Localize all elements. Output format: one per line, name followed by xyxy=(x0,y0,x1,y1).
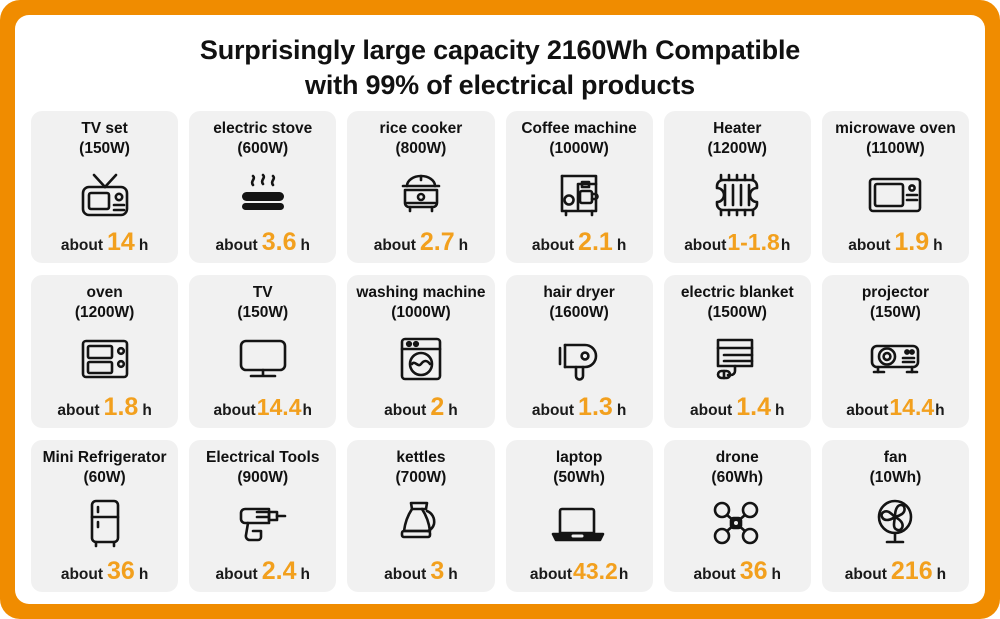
page-title-line-2: with 99% of electrical products xyxy=(31,68,969,103)
appliance-power: (1200W) xyxy=(708,140,767,159)
hair-dryer-icon xyxy=(510,323,649,394)
runtime-value: 1.8 xyxy=(104,395,139,420)
about-label: about xyxy=(214,402,256,420)
appliance-power: (60Wh) xyxy=(711,469,763,488)
appliance-power: (1000W) xyxy=(549,140,608,159)
about-label: about xyxy=(374,237,416,255)
runtime-readout: about2.1h xyxy=(532,230,626,255)
runtime-value: 1.9 xyxy=(894,230,929,255)
runtime-readout: about1.4h xyxy=(690,395,784,420)
appliance-card: Coffee machine(1000W)about2.1h xyxy=(506,111,653,263)
runtime-value: 1-1.8 xyxy=(727,231,779,254)
hours-unit: h xyxy=(139,237,148,255)
appliance-name: rice cooker xyxy=(380,120,463,139)
appliance-name: oven xyxy=(86,284,122,303)
about-label: about xyxy=(532,402,574,420)
runtime-readout: about3.6h xyxy=(216,230,310,255)
runtime-value: 2.7 xyxy=(420,230,455,255)
runtime-readout: about36h xyxy=(694,559,781,584)
about-label: about xyxy=(216,237,258,255)
hours-unit: h xyxy=(617,237,626,255)
runtime-readout: about1.3h xyxy=(532,395,626,420)
appliance-power: (150W) xyxy=(870,304,921,323)
appliance-card: TV(150W)about14.4h xyxy=(189,275,336,427)
runtime-readout: about1-1.8h xyxy=(684,231,790,255)
appliance-name: Mini Refrigerator xyxy=(43,449,167,468)
about-label: about xyxy=(846,402,888,420)
runtime-readout: about14h xyxy=(61,230,148,255)
hours-unit: h xyxy=(302,402,311,420)
hours-unit: h xyxy=(781,237,790,255)
appliance-power: (1200W) xyxy=(75,304,134,323)
appliance-card: kettles(700W)about3h xyxy=(347,440,494,592)
runtime-value: 1.4 xyxy=(736,395,771,420)
appliance-power: (50Wh) xyxy=(553,469,605,488)
page-title: Surprisingly large capacity 2160Wh Compa… xyxy=(31,29,969,111)
hours-unit: h xyxy=(300,566,309,584)
appliance-card: Mini Refrigerator(60W)about36h xyxy=(31,440,178,592)
hours-unit: h xyxy=(448,566,457,584)
appliance-card: electric stove(600W)about3.6h xyxy=(189,111,336,263)
hours-unit: h xyxy=(775,402,784,420)
about-label: about xyxy=(694,566,736,584)
appliance-name: TV set xyxy=(81,120,128,139)
about-label: about xyxy=(530,566,572,584)
runtime-readout: about216h xyxy=(845,559,946,584)
coffee-machine-icon xyxy=(510,159,649,230)
hours-unit: h xyxy=(448,402,457,420)
about-label: about xyxy=(61,566,103,584)
about-label: about xyxy=(532,237,574,255)
appliance-card: rice cooker(800W)about2.7h xyxy=(347,111,494,263)
appliance-name: projector xyxy=(862,284,929,303)
appliance-card: projector(150W)about14.4h xyxy=(822,275,969,427)
appliance-power: (600W) xyxy=(237,140,288,159)
appliance-power: (1000W) xyxy=(391,304,450,323)
appliance-name: Heater xyxy=(713,120,761,139)
about-label: about xyxy=(684,237,726,255)
appliance-name: TV xyxy=(253,284,273,303)
hours-unit: h xyxy=(937,566,946,584)
content-panel: Surprisingly large capacity 2160Wh Compa… xyxy=(15,15,985,604)
laptop-icon xyxy=(510,488,649,560)
appliance-name: Electrical Tools xyxy=(206,449,319,468)
orange-frame: Surprisingly large capacity 2160Wh Compa… xyxy=(0,0,1000,619)
appliance-power: (1100W) xyxy=(866,140,925,159)
runtime-readout: about1.8h xyxy=(57,395,151,420)
about-label: about xyxy=(216,566,258,584)
about-label: about xyxy=(384,566,426,584)
appliance-name: electric stove xyxy=(213,120,312,139)
appliance-card: TV set(150W)about14h xyxy=(31,111,178,263)
runtime-readout: about14.4h xyxy=(846,396,944,420)
appliance-card: Heater(1200W)about1-1.8h xyxy=(664,111,811,263)
about-label: about xyxy=(690,402,732,420)
runtime-readout: about2.4h xyxy=(216,559,310,584)
appliance-card: electric blanket(1500W)about1.4h xyxy=(664,275,811,427)
runtime-value: 14.4 xyxy=(257,396,302,419)
page-title-line-1: Surprisingly large capacity 2160Wh Compa… xyxy=(31,33,969,68)
runtime-value: 36 xyxy=(740,559,768,584)
runtime-value: 14 xyxy=(107,230,135,255)
appliance-power: (10Wh) xyxy=(870,469,922,488)
appliance-name: laptop xyxy=(556,449,603,468)
about-label: about xyxy=(57,402,99,420)
about-label: about xyxy=(845,566,887,584)
runtime-value: 3.6 xyxy=(262,230,297,255)
appliance-card: drone(60Wh)about36h xyxy=(664,440,811,592)
runtime-readout: about36h xyxy=(61,559,148,584)
hours-unit: h xyxy=(935,402,944,420)
runtime-readout: about2.7h xyxy=(374,230,468,255)
appliance-card: laptop(50Wh)about43.2h xyxy=(506,440,653,592)
appliance-power: (60W) xyxy=(83,469,125,488)
hours-unit: h xyxy=(459,237,468,255)
appliance-card: fan(10Wh)about216h xyxy=(822,440,969,592)
runtime-value: 36 xyxy=(107,559,135,584)
runtime-value: 216 xyxy=(891,559,933,584)
washing-machine-icon xyxy=(351,323,490,394)
runtime-value: 14.4 xyxy=(889,396,934,419)
crt-tv-icon xyxy=(35,159,174,230)
electric-stove-icon xyxy=(193,159,332,230)
appliance-card: microwave oven(1100W)about1.9h xyxy=(822,111,969,263)
appliance-name: fan xyxy=(884,449,907,468)
runtime-value: 3 xyxy=(430,559,444,584)
appliance-power: (1500W) xyxy=(708,304,767,323)
appliance-name: electric blanket xyxy=(681,284,794,303)
drone-icon xyxy=(668,488,807,559)
appliance-grid: TV set(150W)about14helectric stove(600W)… xyxy=(31,111,969,592)
runtime-value: 43.2 xyxy=(573,560,618,583)
runtime-value: 1.3 xyxy=(578,395,613,420)
about-label: about xyxy=(384,402,426,420)
microwave-oven-icon xyxy=(826,159,965,230)
appliance-card: oven(1200W)about1.8h xyxy=(31,275,178,427)
appliance-name: drone xyxy=(716,449,759,468)
hours-unit: h xyxy=(619,566,628,584)
appliance-power: (900W) xyxy=(237,469,288,488)
appliance-card: hair dryer(1600W)about1.3h xyxy=(506,275,653,427)
hours-unit: h xyxy=(772,566,781,584)
power-drill-icon xyxy=(193,488,332,559)
refrigerator-icon xyxy=(35,488,174,559)
oven-icon xyxy=(35,323,174,394)
hours-unit: h xyxy=(142,402,151,420)
about-label: about xyxy=(61,237,103,255)
kettle-icon xyxy=(351,488,490,559)
hours-unit: h xyxy=(933,237,942,255)
runtime-readout: about2h xyxy=(384,395,458,420)
hours-unit: h xyxy=(617,402,626,420)
appliance-name: hair dryer xyxy=(543,284,615,303)
runtime-readout: about43.2h xyxy=(530,560,628,584)
appliance-name: kettles xyxy=(396,449,445,468)
appliance-power: (150W) xyxy=(79,140,130,159)
appliance-name: microwave oven xyxy=(835,120,956,139)
appliance-name: Coffee machine xyxy=(521,120,636,139)
runtime-readout: about3h xyxy=(384,559,458,584)
flat-tv-icon xyxy=(193,323,332,395)
radiator-heater-icon xyxy=(668,159,807,231)
runtime-value: 2.1 xyxy=(578,230,613,255)
appliance-power: (800W) xyxy=(396,140,447,159)
appliance-power: (150W) xyxy=(237,304,288,323)
runtime-readout: about14.4h xyxy=(214,396,312,420)
appliance-power: (1600W) xyxy=(549,304,608,323)
rice-cooker-icon xyxy=(351,159,490,230)
about-label: about xyxy=(848,237,890,255)
runtime-value: 2.4 xyxy=(262,559,297,584)
runtime-value: 2 xyxy=(430,395,444,420)
hours-unit: h xyxy=(300,237,309,255)
appliance-card: Electrical Tools(900W)about2.4h xyxy=(189,440,336,592)
appliance-power: (700W) xyxy=(396,469,447,488)
appliance-card: washing machine(1000W)about2h xyxy=(347,275,494,427)
electric-blanket-icon xyxy=(668,323,807,394)
runtime-readout: about1.9h xyxy=(848,230,942,255)
fan-icon xyxy=(826,488,965,559)
projector-icon xyxy=(826,323,965,395)
hours-unit: h xyxy=(139,566,148,584)
appliance-name: washing machine xyxy=(356,284,485,303)
